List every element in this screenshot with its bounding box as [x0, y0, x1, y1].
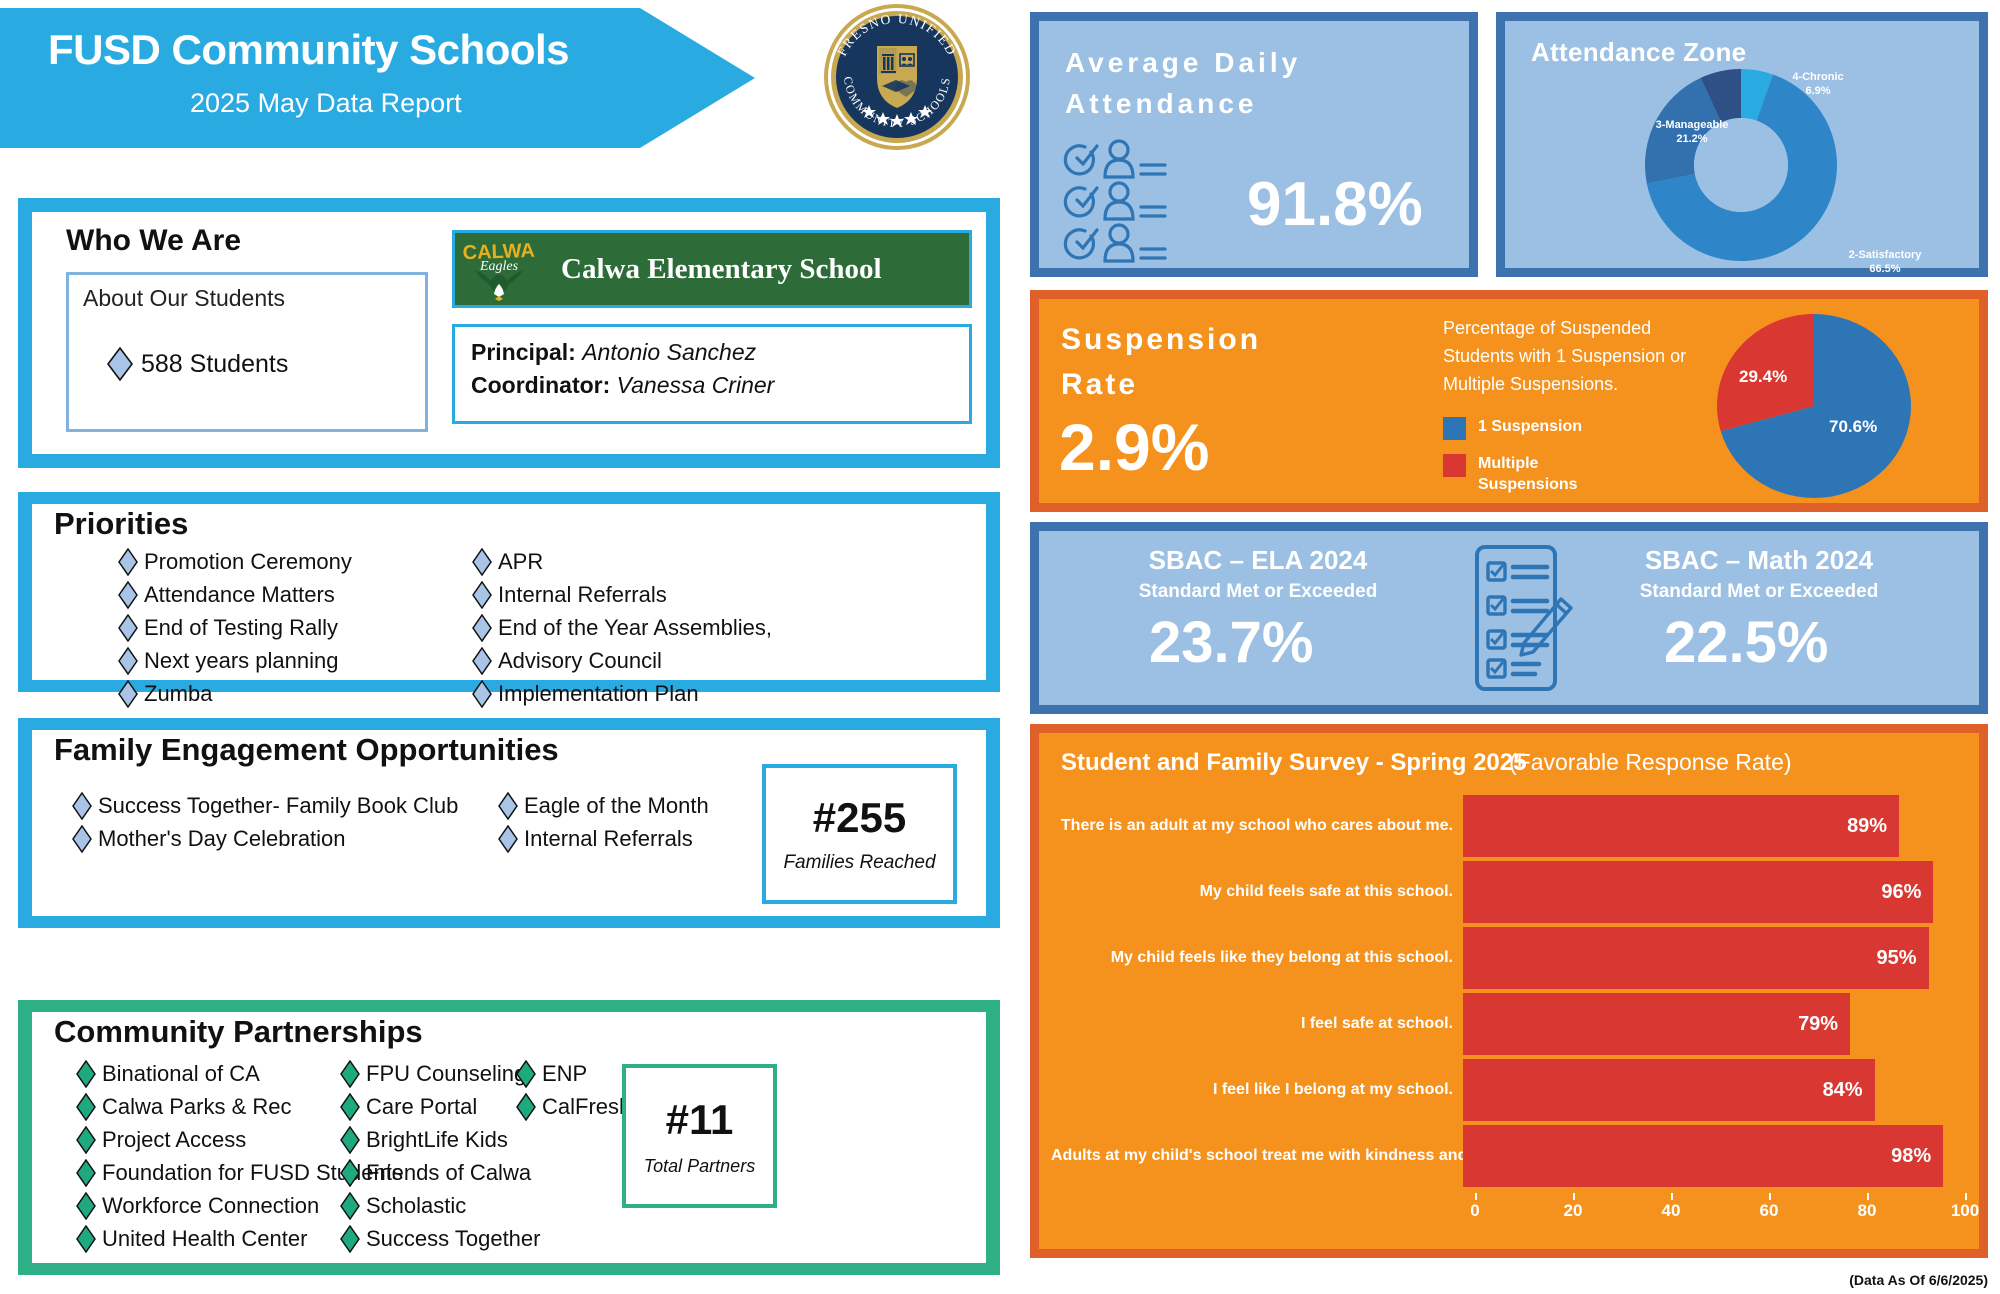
list-item: Next years planning — [118, 647, 352, 675]
list-item-label: Success Together — [366, 1226, 540, 1252]
list-item: ENP — [516, 1060, 631, 1088]
survey-question-label: My child feels like they belong at this … — [1051, 949, 1463, 967]
list-item: APR — [472, 548, 772, 576]
axis-tick-label: 100 — [1951, 1201, 1979, 1221]
legend-swatch — [1443, 454, 1466, 477]
survey-bar-value: 98% — [1891, 1145, 1943, 1168]
diamond-bullet-icon — [76, 1060, 96, 1088]
survey-bar-chart: There is an adult at my school who cares… — [1051, 795, 1969, 1195]
survey-bar-track: 96% — [1463, 861, 1953, 923]
list-item-label: Project Access — [102, 1127, 246, 1153]
survey-row: Adults at my child's school treat me wit… — [1051, 1125, 1969, 1187]
sbac-ela-value: 23.7% — [1149, 609, 1313, 676]
sbac-ela-subtitle: Standard Met or Exceeded — [1063, 581, 1453, 603]
list-item-label: FPU Counseling — [366, 1061, 526, 1087]
principal-name: Antonio Sanchez — [582, 339, 756, 365]
survey-row: My child feels like they belong at this … — [1051, 927, 1969, 989]
list-item: Advisory Council — [472, 647, 772, 675]
list-item-label: BrightLife Kids — [366, 1127, 508, 1153]
diamond-bullet-icon — [340, 1060, 360, 1088]
calwa-eagles-logo-icon: CALWA Eagles — [455, 236, 543, 302]
list-item: Eagle of the Month — [498, 792, 709, 820]
diamond-bullet-icon — [498, 792, 518, 820]
survey-row: My child feels safe at this school.96% — [1051, 861, 1969, 923]
report-subtitle: 2025 May Data Report — [190, 88, 462, 119]
list-item-label: ENP — [542, 1061, 587, 1087]
community-partnerships-inner: Community Partnerships Binational of CAC… — [32, 1012, 986, 1263]
partners-column-b: FPU CounselingCare PortalBrightLife Kids… — [340, 1060, 540, 1258]
list-item-label: Eagle of the Month — [524, 793, 709, 819]
list-item-label: Zumba — [144, 681, 212, 707]
list-item: End of the Year Assemblies, — [472, 614, 772, 642]
survey-title: Student and Family Survey - Spring 2025 — [1061, 749, 1526, 777]
diamond-bullet-icon — [498, 825, 518, 853]
axis-tick-label: 0 — [1470, 1201, 1479, 1221]
suspension-pie-chart — [1699, 309, 1929, 504]
list-item-label: Success Together- Family Book Club — [98, 793, 458, 819]
list-item: Attendance Matters — [118, 581, 352, 609]
partners-column-c: ENPCalFresh — [516, 1060, 631, 1126]
survey-row: I feel like I belong at my school.84% — [1051, 1059, 1969, 1121]
svg-text:Eagles: Eagles — [479, 259, 519, 274]
list-item-label: Internal Referrals — [498, 582, 667, 608]
legend-item: Multiple Suspensions — [1443, 454, 1588, 496]
list-item: BrightLife Kids — [340, 1126, 540, 1154]
survey-bar: 84% — [1463, 1059, 1875, 1121]
sbac-math-header: SBAC – Math 2024 Standard Met or Exceede… — [1559, 545, 1959, 603]
who-we-are-title: Who We Are — [66, 226, 241, 256]
about-our-students-label: About Our Students — [83, 285, 285, 312]
survey-bar-track: 89% — [1463, 795, 1953, 857]
diamond-bullet-icon — [76, 1126, 96, 1154]
about-our-students-box: About Our Students 588 Students — [66, 272, 428, 432]
attendance-checklist-icon — [1061, 139, 1241, 264]
survey-bar-value: 84% — [1823, 1079, 1875, 1102]
list-item-label: Care Portal — [366, 1094, 477, 1120]
student-count-row: 588 Students — [107, 347, 288, 381]
axis-tick-label: 40 — [1662, 1201, 1681, 1221]
list-item-label: Promotion Ceremony — [144, 549, 352, 575]
diamond-bullet-icon — [118, 614, 138, 642]
survey-bar-track: 95% — [1463, 927, 1953, 989]
total-partners-stat: #11 Total Partners — [622, 1064, 777, 1208]
axis-tick — [1671, 1193, 1673, 1200]
survey-bar: 96% — [1463, 861, 1933, 923]
list-item: Care Portal — [340, 1093, 540, 1121]
suspension-title-line2: Rate — [1061, 362, 1261, 407]
zone-label-chronic: 4-Chronic6.9% — [1773, 71, 1863, 99]
survey-bar: 79% — [1463, 993, 1850, 1055]
list-item-label: Internal Referrals — [524, 826, 693, 852]
survey-question-label: I feel like I belong at my school. — [1051, 1081, 1463, 1099]
axis-tick — [1867, 1193, 1869, 1200]
sbac-panel: SBAC – ELA 2024 Standard Met or Exceeded… — [1030, 522, 1988, 714]
list-item: Internal Referrals — [498, 825, 709, 853]
list-item-label: Friends of Calwa — [366, 1160, 531, 1186]
list-item-label: Binational of CA — [102, 1061, 260, 1087]
school-name-banner: CALWA Eagles Calwa Elementary School — [452, 230, 972, 308]
list-item: Success Together- Family Book Club — [72, 792, 458, 820]
diamond-bullet-icon — [118, 581, 138, 609]
coordinator-label: Coordinator: — [471, 372, 610, 398]
survey-bar-track: 79% — [1463, 993, 1953, 1055]
family-engagement-column-b: Eagle of the MonthInternal Referrals — [498, 792, 709, 858]
student-count-text: 588 Students — [141, 350, 288, 379]
community-partnerships-panel: Community Partnerships Binational of CAC… — [18, 1000, 1000, 1275]
staff-info-box: Principal: Antonio Sanchez Coordinator: … — [452, 324, 972, 424]
diamond-bullet-icon — [340, 1126, 360, 1154]
pie-label-one: 70.6% — [1829, 417, 1877, 437]
ada-value: 91.8% — [1247, 169, 1423, 240]
survey-bar-value: 89% — [1847, 815, 1899, 838]
report-header: FUSD Community Schools 2025 May Data Rep… — [0, 0, 1000, 150]
student-family-survey-panel: Student and Family Survey - Spring 2025 … — [1030, 724, 1988, 1258]
survey-row: I feel safe at school.79% — [1051, 993, 1969, 1055]
list-item: Internal Referrals — [472, 581, 772, 609]
priorities-column-a: Promotion CeremonyAttendance MattersEnd … — [118, 548, 352, 713]
list-item-label: Implementation Plan — [498, 681, 699, 707]
list-item-label: End of the Year Assemblies, — [498, 615, 772, 641]
suspension-description: Percentage of Suspended Students with 1 … — [1443, 315, 1693, 399]
list-item-label: Mother's Day Celebration — [98, 826, 346, 852]
who-we-are-inner: Who We Are About Our Students 588 Studen… — [32, 212, 986, 454]
list-item: Friends of Calwa — [340, 1159, 540, 1187]
axis-tick — [1475, 1193, 1477, 1200]
list-item-label: Advisory Council — [498, 648, 662, 674]
coordinator-row: Coordinator: Vanessa Criner — [471, 372, 969, 399]
ada-title-line2: Attendance — [1065, 84, 1301, 125]
list-item: Promotion Ceremony — [118, 548, 352, 576]
list-item-label: Attendance Matters — [144, 582, 335, 608]
family-engagement-panel: Family Engagement Opportunities Success … — [18, 718, 1000, 928]
survey-question-label: Adults at my child's school treat me wit… — [1051, 1147, 1463, 1165]
list-item: Implementation Plan — [472, 680, 772, 708]
list-item: End of Testing Rally — [118, 614, 352, 642]
survey-question-label: I feel safe at school. — [1051, 1015, 1463, 1033]
who-we-are-panel: Who We Are About Our Students 588 Studen… — [18, 198, 1000, 468]
list-item-label: Calwa Parks & Rec — [102, 1094, 292, 1120]
legend-swatch — [1443, 417, 1466, 440]
zone-label-manageable: 3-Manageable21.2% — [1637, 119, 1747, 147]
survey-x-axis: 020406080100 — [1475, 1193, 1965, 1227]
diamond-bullet-icon — [472, 647, 492, 675]
survey-bar: 95% — [1463, 927, 1929, 989]
priorities-title: Priorities — [54, 508, 188, 539]
families-reached-stat: #255 Families Reached — [762, 764, 957, 904]
diamond-bullet-icon — [76, 1192, 96, 1220]
axis-tick — [1573, 1193, 1575, 1200]
list-item-label: Scholastic — [366, 1193, 466, 1219]
sbac-ela-header: SBAC – ELA 2024 Standard Met or Exceeded — [1063, 545, 1453, 603]
survey-bar-track: 84% — [1463, 1059, 1953, 1121]
average-daily-attendance-panel: Average Daily Attendance 91.8% — [1030, 12, 1478, 277]
sbac-math-subtitle: Standard Met or Exceeded — [1559, 581, 1959, 603]
sbac-ela-title: SBAC – ELA 2024 — [1063, 545, 1453, 576]
legend-label: Multiple Suspensions — [1478, 454, 1588, 496]
sbac-math-value: 22.5% — [1664, 609, 1828, 676]
diamond-bullet-icon — [472, 581, 492, 609]
priorities-inner: Priorities Promotion CeremonyAttendance … — [32, 504, 986, 680]
list-item: CalFresh — [516, 1093, 631, 1121]
list-item-label: End of Testing Rally — [144, 615, 338, 641]
diamond-bullet-icon — [340, 1192, 360, 1220]
list-item: Mother's Day Celebration — [72, 825, 458, 853]
total-partners-caption: Total Partners — [644, 1156, 755, 1177]
axis-tick-label: 80 — [1858, 1201, 1877, 1221]
diamond-bullet-icon — [340, 1093, 360, 1121]
page-title: FUSD Community Schools — [48, 26, 569, 74]
list-item: Success Together — [340, 1225, 540, 1253]
diamond-bullet-icon — [118, 680, 138, 708]
list-item-label: Workforce Connection — [102, 1193, 319, 1219]
survey-row: There is an adult at my school who cares… — [1051, 795, 1969, 857]
diamond-bullet-icon — [118, 647, 138, 675]
list-item-label: Next years planning — [144, 648, 338, 674]
legend-label: 1 Suspension — [1478, 417, 1582, 438]
family-engagement-inner: Family Engagement Opportunities Success … — [32, 730, 986, 916]
family-engagement-title: Family Engagement Opportunities — [54, 734, 559, 765]
list-item-label: CalFresh — [542, 1094, 631, 1120]
diamond-bullet-icon — [76, 1225, 96, 1253]
sbac-math-title: SBAC – Math 2024 — [1559, 545, 1959, 576]
suspension-title: Suspension Rate — [1061, 317, 1261, 407]
school-name: Calwa Elementary School — [561, 253, 882, 286]
diamond-bullet-icon — [516, 1093, 536, 1121]
survey-bar-value: 79% — [1798, 1013, 1850, 1036]
list-item-label: United Health Center — [102, 1226, 307, 1252]
survey-bar: 89% — [1463, 795, 1899, 857]
suspension-rate-panel: Suspension Rate 2.9% Percentage of Suspe… — [1030, 290, 1988, 512]
suspension-title-line1: Suspension — [1061, 317, 1261, 362]
list-item: Scholastic — [340, 1192, 540, 1220]
priorities-column-b: APRInternal ReferralsEnd of the Year Ass… — [472, 548, 772, 713]
priorities-panel: Priorities Promotion CeremonyAttendance … — [18, 492, 1000, 692]
diamond-bullet-icon — [76, 1093, 96, 1121]
family-engagement-column-a: Success Together- Family Book ClubMother… — [72, 792, 458, 858]
clipboard-checklist-icon — [1457, 541, 1577, 693]
list-item: Zumba — [118, 680, 352, 708]
diamond-bullet-icon — [472, 548, 492, 576]
diamond-bullet-icon — [107, 347, 133, 381]
survey-question-label: There is an adult at my school who cares… — [1051, 817, 1463, 835]
list-item-label: APR — [498, 549, 543, 575]
axis-tick — [1769, 1193, 1771, 1200]
pie-label-multiple: 29.4% — [1739, 367, 1787, 387]
principal-row: Principal: Antonio Sanchez — [471, 339, 969, 366]
diamond-bullet-icon — [72, 792, 92, 820]
community-partnerships-title: Community Partnerships — [54, 1016, 423, 1047]
principal-label: Principal: — [471, 339, 576, 365]
diamond-bullet-icon — [340, 1159, 360, 1187]
ada-title: Average Daily Attendance — [1065, 43, 1301, 124]
list-item: FPU Counseling — [340, 1060, 540, 1088]
suspension-legend: 1 SuspensionMultiple Suspensions — [1443, 417, 1588, 510]
legend-item: 1 Suspension — [1443, 417, 1588, 440]
axis-tick — [1965, 1193, 1967, 1200]
survey-bar-value: 95% — [1876, 947, 1928, 970]
axis-tick-label: 20 — [1564, 1201, 1583, 1221]
survey-bar-value: 96% — [1881, 881, 1933, 904]
diamond-bullet-icon — [118, 548, 138, 576]
suspension-rate-value: 2.9% — [1059, 409, 1209, 485]
ada-title-line1: Average Daily — [1065, 43, 1301, 84]
zone-label-satisfactory: 2-Satisfactory66.5% — [1825, 249, 1945, 277]
diamond-bullet-icon — [72, 825, 92, 853]
diamond-bullet-icon — [472, 680, 492, 708]
diamond-bullet-icon — [76, 1159, 96, 1187]
fresno-unified-seal-icon: FRESNO UNIFIED COMMUNITY SCHOOLS — [822, 2, 972, 152]
coordinator-name: Vanessa Criner — [617, 372, 775, 398]
diamond-bullet-icon — [516, 1060, 536, 1088]
survey-bar-track: 98% — [1463, 1125, 1953, 1187]
diamond-bullet-icon — [472, 614, 492, 642]
families-reached-value: #255 — [813, 794, 906, 842]
survey-subtitle: (Favorable Response Rate) — [1509, 749, 1792, 776]
survey-question-label: My child feels safe at this school. — [1051, 883, 1463, 901]
total-partners-value: #11 — [666, 1096, 734, 1144]
diamond-bullet-icon — [340, 1225, 360, 1253]
attendance-zone-panel: Attendance Zone 4-Chronic6.9% 3-Manageab… — [1496, 12, 1988, 277]
axis-tick-label: 60 — [1760, 1201, 1779, 1221]
survey-bar: 98% — [1463, 1125, 1943, 1187]
families-reached-caption: Families Reached — [783, 852, 935, 874]
data-footnote: (Data As Of 6/6/2025) — [1849, 1272, 1988, 1288]
